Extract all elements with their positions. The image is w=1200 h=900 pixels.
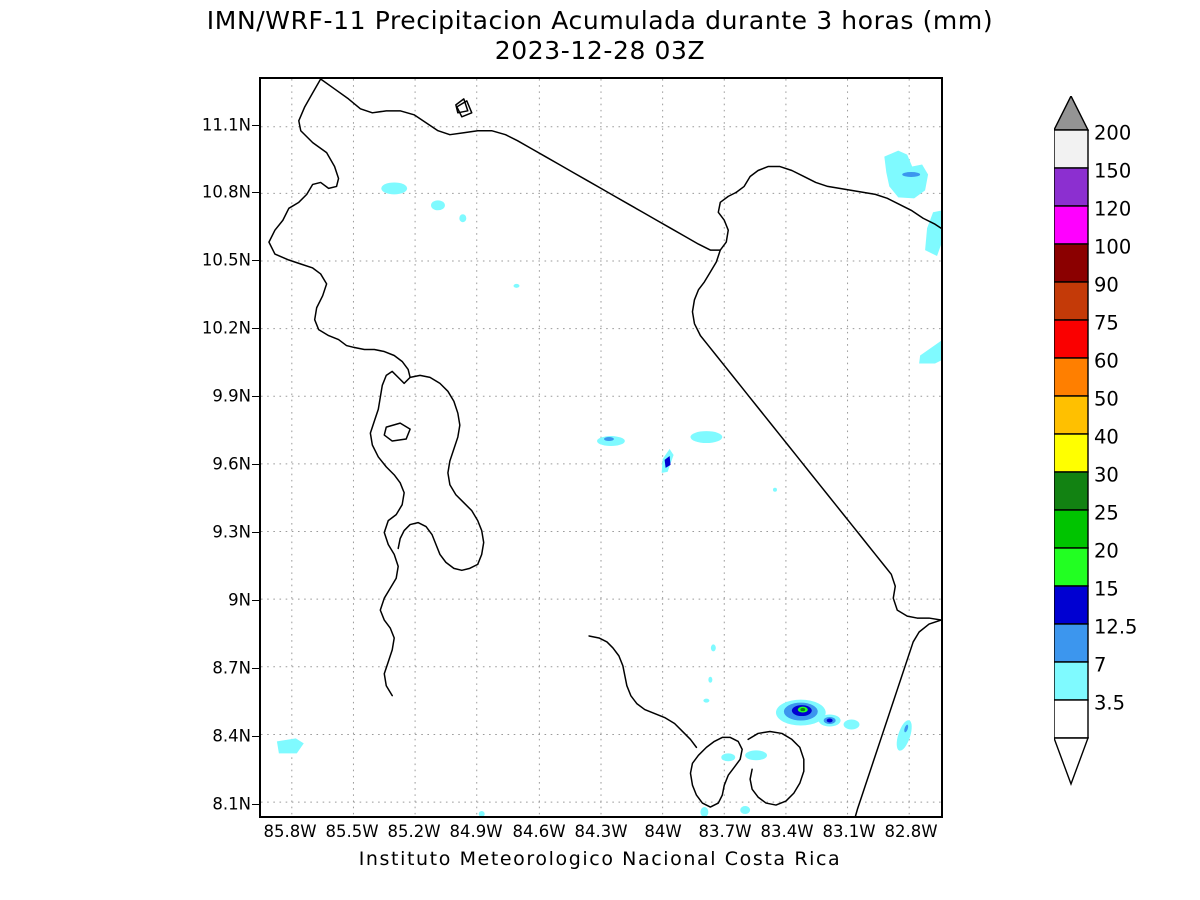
x-tick-label: 84.9W	[449, 822, 502, 841]
y-tick-mark	[252, 125, 260, 126]
colorbar-swatch[interactable]	[1054, 244, 1088, 282]
precip-core-central-a	[604, 437, 614, 441]
island-nicoya	[384, 423, 410, 441]
precip-cell-nw-2	[431, 200, 445, 210]
border-north-san-juan	[321, 79, 737, 250]
colorbar-tick-label: 40	[1094, 426, 1119, 449]
x-tick-label: 82.8W	[884, 822, 937, 841]
x-axis-labels: 85.8W85.5W85.2W84.9W84.6W84.3W84W83.7W83…	[259, 822, 943, 846]
precip-cell-se-trace-2	[708, 677, 712, 683]
precip-cell-panama	[894, 718, 915, 752]
precip-core-se-b	[827, 719, 833, 723]
precip-cell-south-1	[700, 807, 708, 816]
colorbar-swatch[interactable]	[1054, 472, 1088, 510]
colorbar-tick-label: 60	[1094, 350, 1119, 373]
y-tick-mark	[252, 668, 260, 669]
x-tick-label: 85.5W	[325, 822, 378, 841]
x-tick-label: 85.8W	[263, 822, 316, 841]
precipitation-contours	[277, 151, 941, 816]
border-panama-east	[856, 620, 941, 816]
colorbar-tick-label: 25	[1094, 502, 1119, 525]
colorbar-tick-label: 20	[1094, 540, 1119, 563]
precip-cell-osa-2	[721, 753, 735, 761]
colorbar-swatch[interactable]	[1054, 662, 1088, 700]
y-tick-mark	[252, 532, 260, 533]
coastlines	[269, 79, 941, 816]
precip-cell-nw-1	[381, 182, 407, 194]
gridlines	[261, 79, 941, 816]
y-tick-mark	[252, 804, 260, 805]
colorbar-swatch[interactable]	[1054, 700, 1088, 738]
map-plot-area[interactable]	[259, 77, 943, 818]
precip-core-ne-1	[902, 172, 920, 177]
chart-title-block: IMN/WRF-11 Precipitacion Acumulada duran…	[0, 6, 1200, 65]
colorbar-tick-label: 100	[1094, 236, 1131, 259]
x-tick-label: 83.4W	[760, 822, 813, 841]
colorbar-swatches	[1054, 96, 1088, 784]
colorbar-tick-label: 3.5	[1094, 692, 1125, 715]
precip-cell-south-3	[479, 811, 485, 816]
colorbar-tick-label: 90	[1094, 274, 1119, 297]
y-tick-mark	[252, 192, 260, 193]
colorbar-tick-label: 30	[1094, 464, 1119, 487]
footer-credit: Instituto Meteorologico Nacional Costa R…	[0, 848, 1200, 870]
x-tick-label: 84W	[644, 822, 681, 841]
x-tick-label: 85.2W	[387, 822, 440, 841]
precip-cell-central-c	[690, 431, 722, 443]
map-canvas	[261, 79, 941, 816]
precip-cell-south-2	[740, 806, 750, 814]
colorbar-tick-label: 12.5	[1094, 616, 1137, 639]
colorbar-swatch[interactable]	[1054, 396, 1088, 434]
precip-cell-central-trace	[514, 284, 520, 288]
y-tick-mark	[252, 260, 260, 261]
coast-caribbean	[692, 250, 941, 620]
colorbar-swatch[interactable]	[1054, 168, 1088, 206]
colorbar-legend[interactable]: 20015012010090756050403025201512.573.5	[1054, 96, 1194, 816]
colorbar-tick-label: 150	[1094, 160, 1131, 183]
precip-cell-osa-3	[745, 750, 767, 760]
colorbar-swatch[interactable]	[1054, 358, 1088, 396]
precip-cell-ne-3	[919, 330, 941, 364]
colorbar-swatch[interactable]	[1054, 548, 1088, 586]
colorbar-tick-label: 120	[1094, 198, 1131, 221]
precip-cell-central-d	[773, 488, 777, 492]
precip-core-se	[800, 708, 805, 711]
y-tick-mark	[252, 464, 260, 465]
y-tick-mark	[252, 736, 260, 737]
y-axis-ticks	[0, 77, 260, 818]
precip-cell-se-c	[844, 720, 860, 730]
coast-central-pacific	[589, 636, 696, 747]
colorbar-swatch[interactable]	[1054, 206, 1088, 244]
x-tick-label: 84.3W	[574, 822, 627, 841]
y-tick-mark	[252, 600, 260, 601]
colorbar-swatch[interactable]	[1054, 624, 1088, 662]
nicoya-inner-south	[398, 523, 478, 571]
peninsula-osa	[690, 737, 742, 807]
colorbar-tick-label: 200	[1094, 122, 1131, 145]
golfo-dulce-east	[748, 731, 804, 805]
title-line-2: 2023-12-28 03Z	[0, 36, 1200, 66]
precip-cell-ne-2	[925, 210, 941, 256]
colorbar-bottom-arrow	[1054, 738, 1088, 784]
colorbar-swatch[interactable]	[1054, 510, 1088, 548]
x-tick-label: 83.1W	[822, 822, 875, 841]
colorbar-swatch[interactable]	[1054, 130, 1088, 168]
x-tick-label: 83.7W	[698, 822, 751, 841]
title-line-1: IMN/WRF-11 Precipitacion Acumulada duran…	[0, 6, 1200, 36]
colorbar-swatch[interactable]	[1054, 320, 1088, 358]
coast-nw-pacific	[269, 79, 354, 348]
nicoya-inner-east	[410, 375, 484, 564]
colorbar-tick-label: 15	[1094, 578, 1119, 601]
x-tick-label: 84.6W	[512, 822, 565, 841]
y-tick-mark	[252, 396, 260, 397]
coast-guanacaste	[354, 348, 410, 696]
colorbar-swatch[interactable]	[1054, 282, 1088, 320]
colorbar-top-arrow	[1054, 96, 1088, 130]
colorbar-tick-label: 50	[1094, 388, 1119, 411]
y-tick-mark	[252, 328, 260, 329]
precip-cell-nw-3	[459, 214, 466, 222]
precip-cell-osa-spare	[277, 738, 304, 753]
precip-cell-se-trace-1	[703, 699, 709, 703]
colorbar-swatch[interactable]	[1054, 434, 1088, 472]
colorbar-tick-label: 7	[1094, 654, 1106, 677]
precip-cell-se-trace-3	[711, 644, 716, 651]
colorbar-swatch[interactable]	[1054, 586, 1088, 624]
colorbar-tick-label: 75	[1094, 312, 1119, 335]
